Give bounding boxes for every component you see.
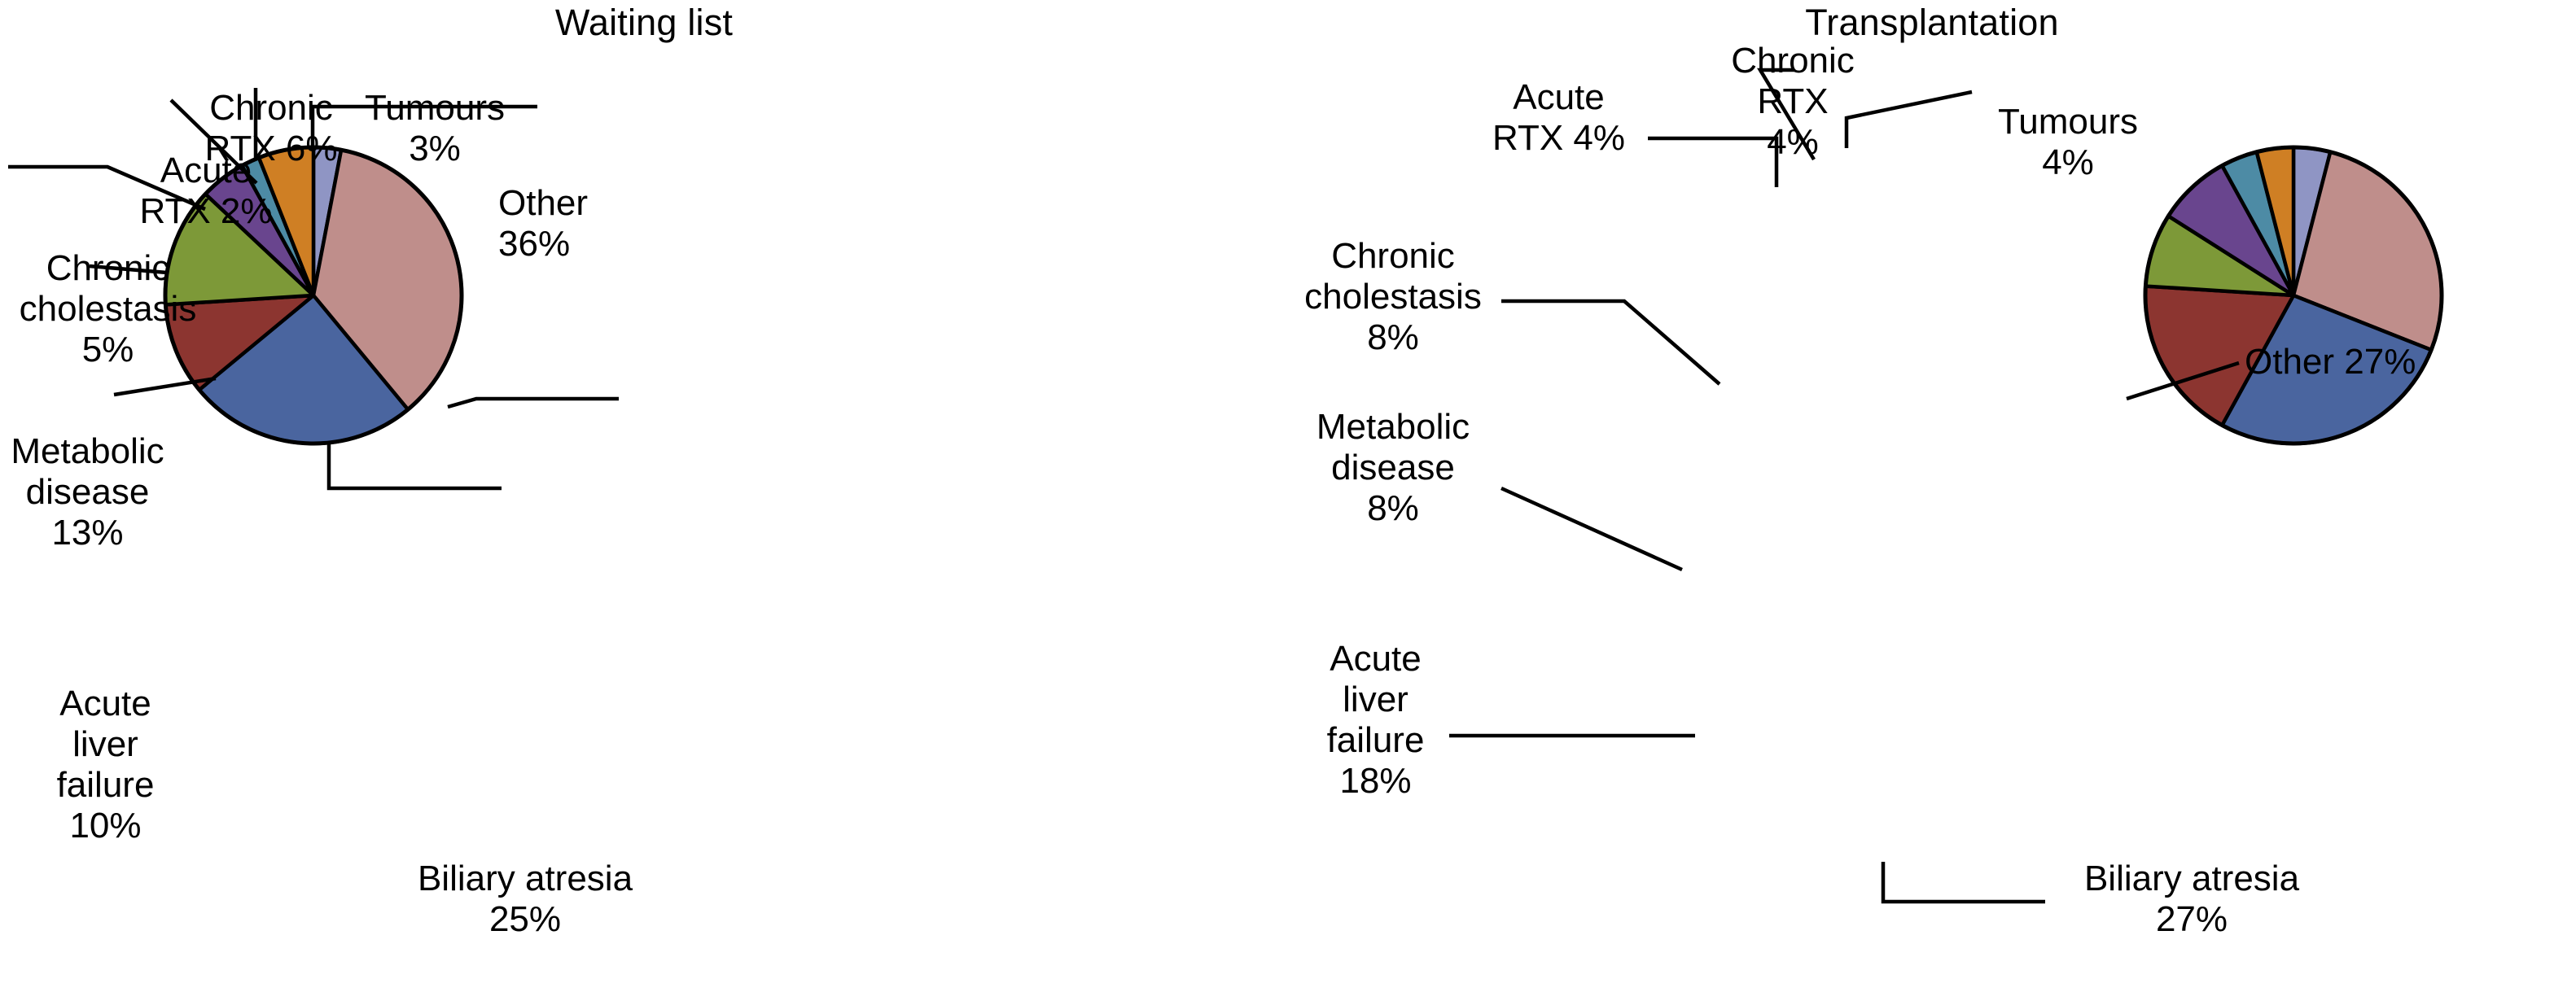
chart-panel-transplantation: Transplantation Tumours 4%Other 27%Bilia… [1288,0,2576,992]
leader-line-biliary-atresia [1883,862,2045,902]
slice-label-acute-liver-failure: Acuteliverfailure10% [18,684,193,846]
slice-label-biliary-atresia: Biliary atresia25% [375,859,676,940]
slice-label-metabolic-disease: Metabolicdisease13% [0,431,175,553]
leader-line-metabolic-disease [1501,488,1682,570]
slice-label-acute-liver-failure: Acuteliverfailure18% [1288,639,1463,802]
slice-label-other: Other 27% [2245,342,2513,382]
leader-lines-transplantation [1449,70,2239,902]
leader-line-other [448,399,619,407]
slice-label-biliary-atresia: Biliary atresia27% [2041,859,2342,940]
slice-label-acute-rtx: AcuteRTX 4% [1467,77,1650,159]
slice-label-chronic-cholestasis: Chroniccholestasis8% [1288,236,1498,358]
leader-line-chronic-cholestasis [1501,301,1720,384]
slice-label-chronic-rtx: ChronicRTX 6% [186,88,357,169]
chart-panel-waiting-list: Waiting list Tumours 3%Other 36%Biliary … [0,0,1288,992]
pie-slices-transplantation: Tumours 4%Other 27%Biliary atresia 27%Ac… [2145,147,2442,444]
slice-label-tumours: Tumours3% [329,88,541,169]
slice-label-other: Other36% [498,183,710,264]
slice-label-metabolic-disease: Metabolicdisease8% [1288,407,1498,529]
slice-label-tumours: Tumours4% [1962,102,2174,183]
slice-label-chronic-cholestasis: Chroniccholestasis5% [0,248,216,370]
slice-label-chronic-rtx: ChronicRTX4% [1711,41,1874,163]
leader-line-biliary-atresia [329,444,502,488]
